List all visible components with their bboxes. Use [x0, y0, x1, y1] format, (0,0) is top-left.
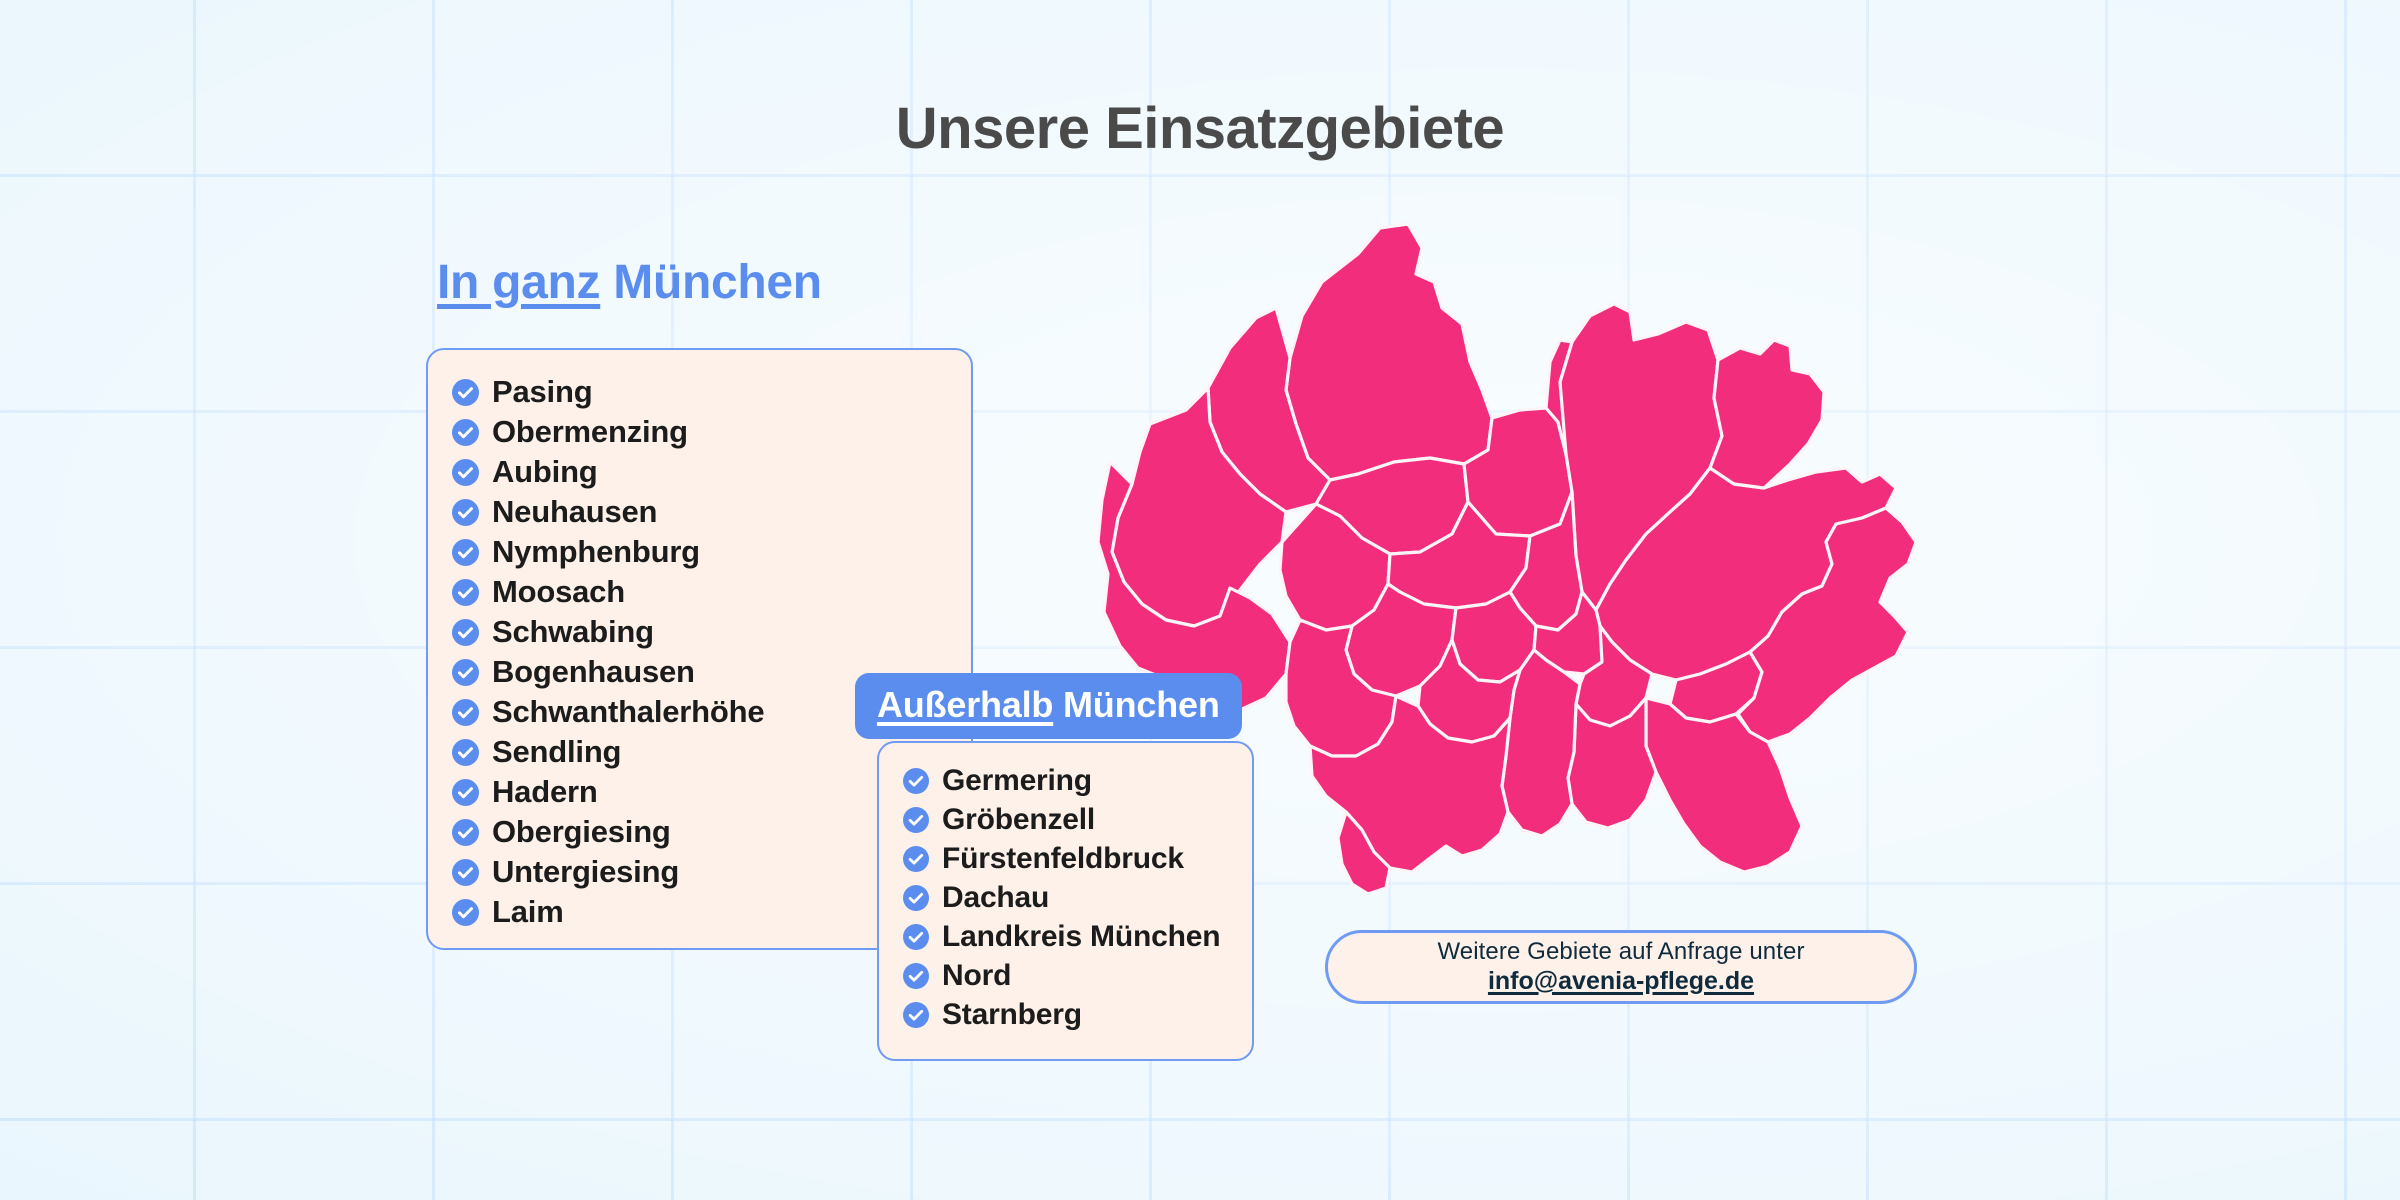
check-circle-icon	[452, 699, 479, 726]
outside-areas-card: GermeringGröbenzellFürstenfeldbruckDacha…	[877, 741, 1254, 1061]
area-label: Landkreis München	[942, 920, 1220, 954]
area-label: Hadern	[492, 774, 598, 810]
poster-canvas: Unsere Einsatzgebiete	[0, 0, 2400, 1200]
area-label: Gröbenzell	[942, 803, 1095, 837]
check-circle-icon	[452, 899, 479, 926]
list-item: Obermenzing	[452, 412, 971, 452]
check-circle-icon	[452, 419, 479, 446]
area-label: Neuhausen	[492, 494, 657, 530]
check-circle-icon	[452, 499, 479, 526]
list-item: Neuhausen	[452, 492, 971, 532]
area-label: Dachau	[942, 881, 1049, 915]
list-item: Moosach	[452, 572, 971, 612]
check-circle-icon	[903, 963, 929, 989]
list-item: Schwabing	[452, 612, 971, 652]
check-circle-icon	[903, 924, 929, 950]
heading-outside-munich: Außerhalb München	[855, 673, 1242, 739]
check-circle-icon	[903, 768, 929, 794]
area-label: Germering	[942, 764, 1092, 798]
check-circle-icon	[452, 539, 479, 566]
outside-areas-list: GermeringGröbenzellFürstenfeldbruckDacha…	[903, 761, 1252, 1034]
heading-outside-munich-underlined: Außerhalb	[877, 684, 1053, 725]
area-label: Untergiesing	[492, 854, 679, 890]
area-label: Nymphenburg	[492, 534, 700, 570]
check-circle-icon	[903, 846, 929, 872]
check-circle-icon	[452, 739, 479, 766]
area-label: Schwanthalerhöhe	[492, 694, 764, 730]
list-item: Aubing	[452, 452, 971, 492]
check-circle-icon	[452, 579, 479, 606]
area-label: Schwabing	[492, 614, 654, 650]
check-circle-icon	[452, 459, 479, 486]
list-item: Nymphenburg	[452, 532, 971, 572]
area-label: Moosach	[492, 574, 625, 610]
area-label: Sendling	[492, 734, 621, 770]
page-title: Unsere Einsatzgebiete	[0, 95, 2400, 162]
list-item: Nord	[903, 956, 1252, 995]
area-label: Aubing	[492, 454, 598, 490]
check-circle-icon	[452, 379, 479, 406]
check-circle-icon	[452, 619, 479, 646]
area-label: Pasing	[492, 374, 592, 410]
list-item: Dachau	[903, 878, 1252, 917]
area-label: Laim	[492, 894, 564, 930]
contact-request-box: Weitere Gebiete auf Anfrage unter info@a…	[1325, 930, 1917, 1004]
area-label: Bogenhausen	[492, 654, 695, 690]
check-circle-icon	[903, 885, 929, 911]
heading-outside-munich-plain: München	[1053, 684, 1219, 725]
check-circle-icon	[452, 659, 479, 686]
list-item: Germering	[903, 761, 1252, 800]
list-item: Pasing	[452, 372, 971, 412]
check-circle-icon	[452, 779, 479, 806]
contact-email-link[interactable]: info@avenia-pflege.de	[1488, 967, 1754, 996]
area-label: Starnberg	[942, 998, 1082, 1032]
list-item: Gröbenzell	[903, 800, 1252, 839]
heading-in-munich-plain: München	[600, 256, 822, 309]
list-item: Fürstenfeldbruck	[903, 839, 1252, 878]
contact-note-text: Weitere Gebiete auf Anfrage unter	[1437, 938, 1804, 966]
area-label: Obergiesing	[492, 814, 671, 850]
area-label: Nord	[942, 959, 1011, 993]
check-circle-icon	[452, 859, 479, 886]
check-circle-icon	[903, 1002, 929, 1028]
check-circle-icon	[903, 807, 929, 833]
list-item: Starnberg	[903, 995, 1252, 1034]
area-label: Fürstenfeldbruck	[942, 842, 1184, 876]
area-label: Obermenzing	[492, 414, 688, 450]
list-item: Landkreis München	[903, 917, 1252, 956]
heading-in-munich: In ganz München	[437, 255, 822, 310]
heading-in-munich-underlined: In ganz	[437, 256, 600, 309]
check-circle-icon	[452, 819, 479, 846]
